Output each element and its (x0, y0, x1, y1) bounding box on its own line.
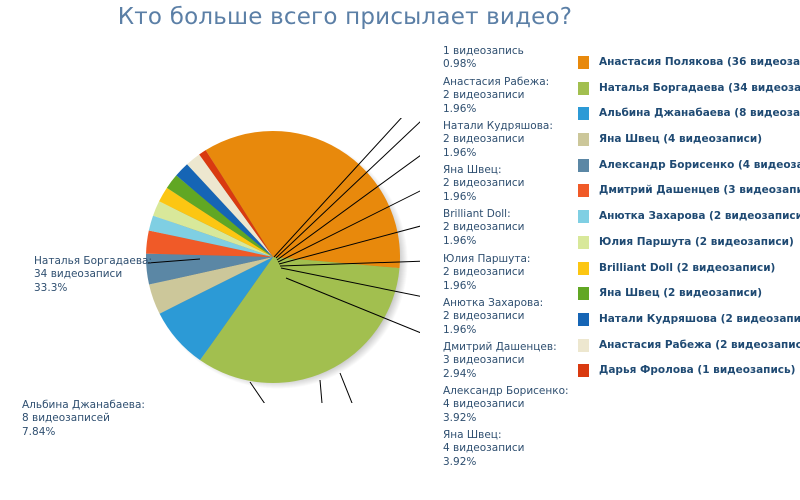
legend-item[interactable]: Юлия Паршута (2 видеозаписи) (578, 235, 800, 261)
callout-count: 2 видеозаписи (443, 177, 524, 190)
callout-natalya: Наталья Боргадаева: 34 видеозаписи 33.3% (34, 255, 152, 295)
callout-count: 8 видеозаписей (22, 412, 145, 425)
legend-item[interactable]: Анастасия Рабежа (2 видеозаписи) (578, 338, 800, 364)
callout-count: 2 видеозаписи (443, 89, 549, 102)
callout-name: Brilliant Doll: (443, 208, 524, 221)
callout-percent: 2.94% (443, 368, 557, 381)
legend-item[interactable]: Натали Кудряшова (2 видеозаписи) (578, 312, 800, 338)
callout-shvets-2: Яна Швец: 2 видеозаписи 1.96% (443, 164, 524, 204)
legend-swatch (578, 107, 589, 120)
legend: Анастасия Полякова (36 видеозаписей)Ната… (578, 55, 800, 389)
legend-item-label: Анютка Захарова (2 видеозаписи) (599, 209, 800, 223)
callout-percent: 1.96% (443, 235, 524, 248)
callout-dashentsev: Дмитрий Дашенцев: 3 видеозаписи 2.94% (443, 341, 557, 381)
legend-item-label: Натали Кудряшова (2 видеозаписи) (599, 312, 800, 326)
leader-line (340, 373, 358, 403)
callout-zakharova: Анютка Захарова: 2 видеозаписи 1.96% (443, 297, 543, 337)
legend-item[interactable]: Дмитрий Дашенцев (3 видеозаписи) (578, 183, 800, 209)
callout-name: Александр Борисенко: (443, 385, 569, 398)
callout-percent: 1.96% (443, 103, 549, 116)
leader-line (320, 380, 325, 403)
page-title: Кто больше всего присылает видео? (0, 4, 690, 30)
legend-item-label: Дмитрий Дашенцев (3 видеозаписи) (599, 183, 800, 197)
legend-swatch (578, 56, 589, 69)
legend-item-label: Александр Борисенко (4 видеозаписи) (599, 158, 800, 172)
callout-name: Яна Швец: (443, 164, 524, 177)
callout-percent: 1.96% (443, 324, 543, 337)
pie-chart-figure: Кто больше всего присылает видео? Наталь… (0, 0, 800, 500)
legend-item[interactable]: Александр Борисенко (4 видеозаписи) (578, 158, 800, 184)
legend-item[interactable]: Наталья Боргадаева (34 видеозаписи) (578, 81, 800, 107)
callout-count: 2 видеозаписи (443, 221, 524, 234)
callout-count: 1 видеозапись (443, 45, 524, 58)
callout-count: 3 видеозаписи (443, 354, 557, 367)
legend-swatch (578, 82, 589, 95)
callout-count: 4 видеозаписи (443, 442, 524, 455)
callout-count: 2 видеозаписи (443, 266, 530, 279)
legend-item[interactable]: Анютка Захарова (2 видеозаписи) (578, 209, 800, 235)
callout-percent: 33.3% (34, 282, 152, 295)
pie-svg (140, 118, 420, 403)
callout-percent: 3.92% (443, 412, 569, 425)
callout-name: Анютка Захарова: (443, 297, 543, 310)
callout-percent: 1.96% (443, 191, 524, 204)
callout-name: Наталья Боргадаева: (34, 255, 152, 268)
legend-item-label: Юлия Паршута (2 видеозаписи) (599, 235, 794, 249)
callout-kudryashova: Натали Кудряшова: 2 видеозаписи 1.96% (443, 120, 553, 160)
legend-swatch (578, 133, 589, 146)
pie-slices (146, 131, 400, 383)
legend-swatch (578, 236, 589, 249)
legend-item-label: Альбина Джанабаева (8 видеозаписей) (599, 106, 800, 120)
callout-count: 2 видеозаписи (443, 310, 543, 323)
callout-parshuta: Юлия Паршута: 2 видеозаписи 1.96% (443, 253, 530, 293)
legend-swatch (578, 159, 589, 172)
callout-albina: Альбина Джанабаева: 8 видеозаписей 7.84% (22, 399, 145, 439)
legend-swatch (578, 313, 589, 326)
callout-name: Анастасия Рабежа: (443, 76, 549, 89)
legend-item[interactable]: Альбина Джанабаева (8 видеозаписей) (578, 106, 800, 132)
callout-name: Юлия Паршута: (443, 253, 530, 266)
callout-brilliant-doll: Brilliant Doll: 2 видеозаписи 1.96% (443, 208, 524, 248)
legend-swatch (578, 339, 589, 352)
callout-name: Натали Кудряшова: (443, 120, 553, 133)
legend-swatch (578, 262, 589, 275)
callout-count: 4 видеозаписи (443, 398, 569, 411)
legend-swatch (578, 210, 589, 223)
pie-graphic (140, 118, 420, 403)
legend-swatch (578, 364, 589, 377)
callout-percent: 1.96% (443, 280, 530, 293)
legend-item[interactable]: Яна Швец (4 видеозаписи) (578, 132, 800, 158)
legend-item[interactable]: Brilliant Doll (2 видеозаписи) (578, 261, 800, 287)
legend-swatch (578, 184, 589, 197)
callout-percent: 7.84% (22, 426, 145, 439)
callout-name: Яна Швец: (443, 429, 524, 442)
legend-item-label: Яна Швец (4 видеозаписи) (599, 132, 762, 146)
legend-item[interactable]: Анастасия Полякова (36 видеозаписей) (578, 55, 800, 81)
callout-count: 2 видеозаписи (443, 133, 553, 146)
callout-darya: 1 видеозапись 0.98% (443, 45, 524, 72)
callout-shvets-4: Яна Швец: 4 видеозаписи 3.92% (443, 429, 524, 469)
callout-percent: 0.98% (443, 58, 524, 71)
legend-item-label: Анастасия Рабежа (2 видеозаписи) (599, 338, 800, 352)
legend-item-label: Наталья Боргадаева (34 видеозаписи) (599, 81, 800, 95)
callout-percent: 3.92% (443, 456, 524, 469)
legend-item[interactable]: Яна Швец (2 видеозаписи) (578, 286, 800, 312)
legend-item-label: Дарья Фролова (1 видеозапись) (599, 363, 795, 377)
callout-name: Дмитрий Дашенцев: (443, 341, 557, 354)
callout-percent: 1.96% (443, 147, 553, 160)
legend-item[interactable]: Дарья Фролова (1 видеозапись) (578, 363, 800, 389)
legend-item-label: Анастасия Полякова (36 видеозаписей) (599, 55, 800, 69)
callout-rabezha: Анастасия Рабежа: 2 видеозаписи 1.96% (443, 76, 549, 116)
callout-count: 34 видеозаписи (34, 268, 152, 281)
callout-borisenko: Александр Борисенко: 4 видеозаписи 3.92% (443, 385, 569, 425)
legend-swatch (578, 287, 589, 300)
legend-item-label: Яна Швец (2 видеозаписи) (599, 286, 762, 300)
legend-item-label: Brilliant Doll (2 видеозаписи) (599, 261, 775, 275)
callout-name: Альбина Джанабаева: (22, 399, 145, 412)
